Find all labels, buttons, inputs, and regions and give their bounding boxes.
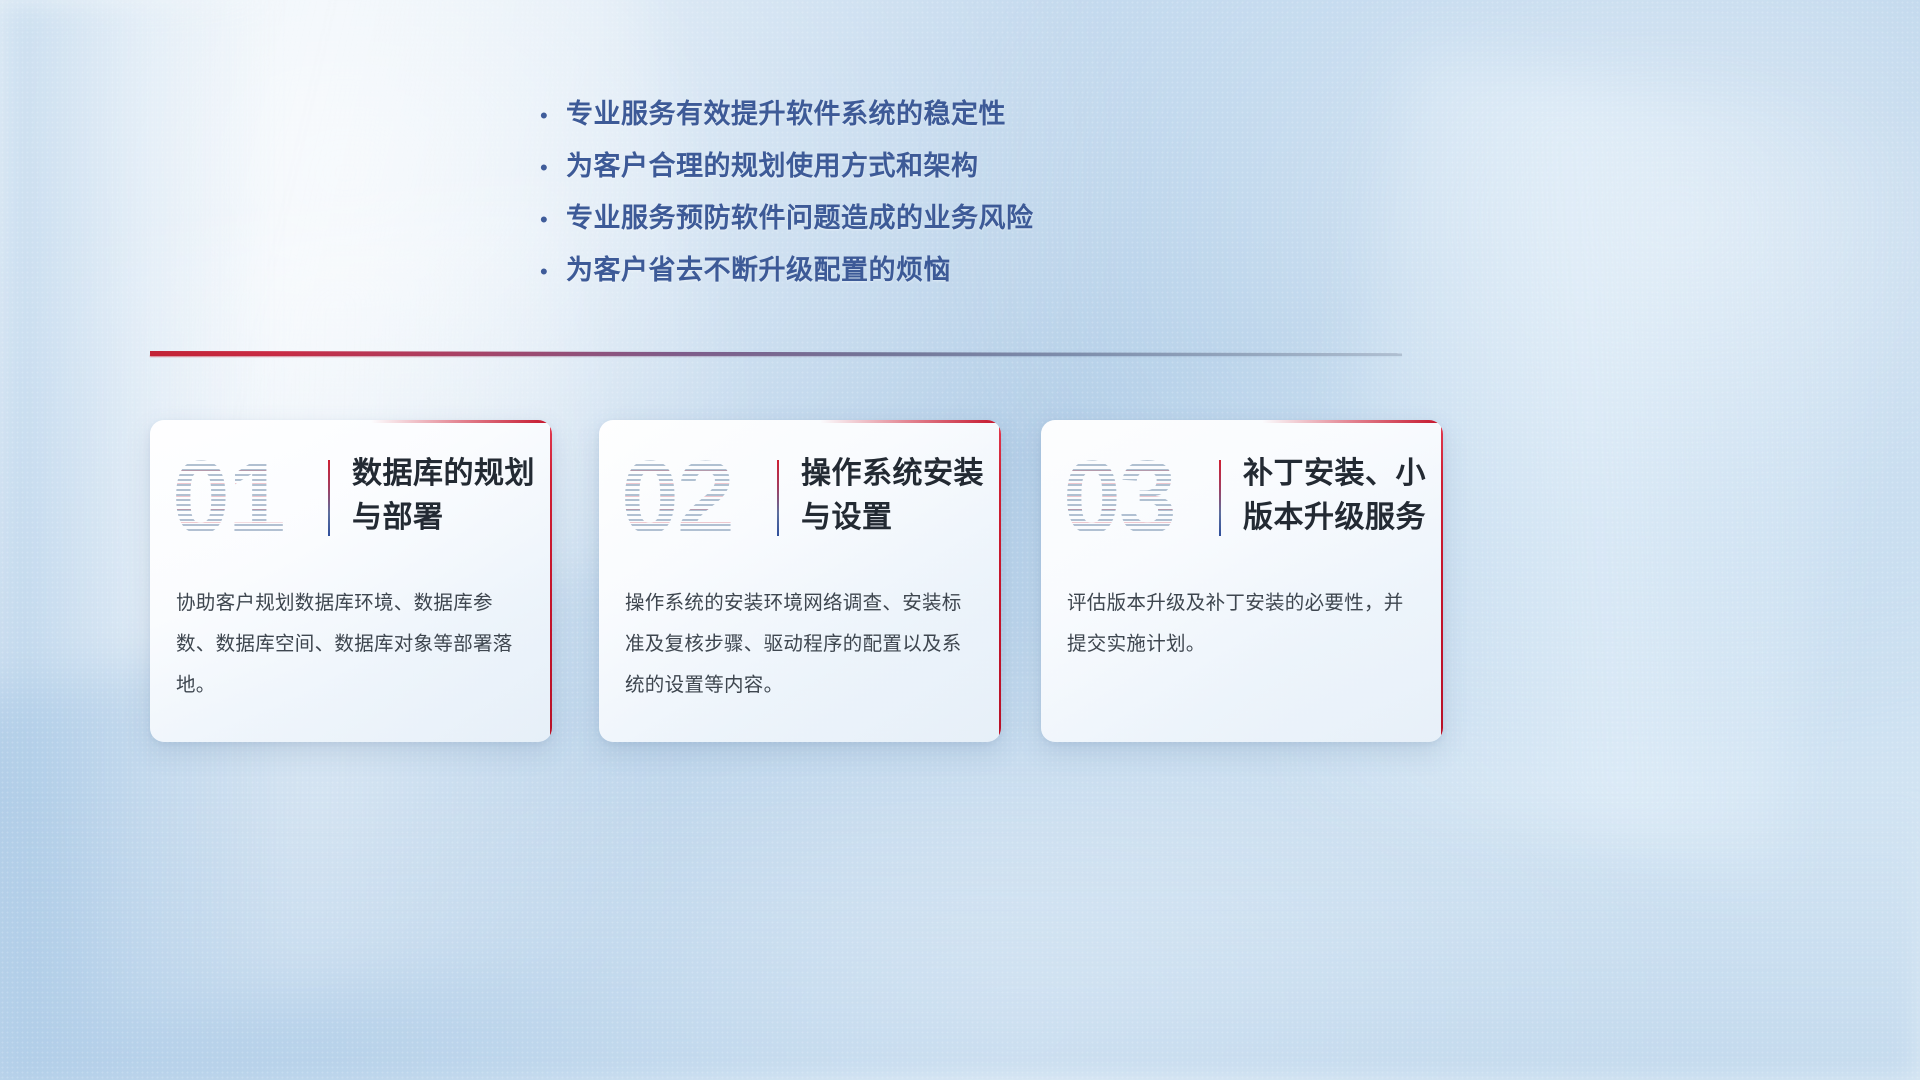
feature-card-01[interactable]: 01 01 数据库的规划与部署 协助客户规划数据库环境、数据库参数、数据库空间、… <box>150 420 552 742</box>
card-number-watermark-tint: 02 <box>621 444 761 552</box>
list-item: • 为客户省去不断升级配置的烦恼 <box>536 248 1156 300</box>
bullet-dot-icon: • <box>536 261 566 283</box>
list-item: • 为客户合理的规划使用方式和架构 <box>536 144 1156 196</box>
card-accent-bar <box>328 460 330 536</box>
bullet-list: • 专业服务有效提升软件系统的稳定性 • 为客户合理的规划使用方式和架构 • 专… <box>536 92 1156 300</box>
card-title: 补丁安装、小版本升级服务 <box>1243 452 1427 540</box>
card-title: 操作系统安装与设置 <box>801 452 985 540</box>
divider-shadow-line <box>150 355 1402 357</box>
card-title: 数据库的规划与部署 <box>352 452 536 540</box>
card-row: 01 01 数据库的规划与部署 协助客户规划数据库环境、数据库参数、数据库空间、… <box>0 420 1920 750</box>
card-number-watermark-tint: 03 <box>1063 444 1203 552</box>
bullet-text: 专业服务有效提升软件系统的稳定性 <box>566 92 1006 131</box>
card-number-watermark-tint: 01 <box>172 444 312 552</box>
section-divider <box>150 348 1402 362</box>
card-header: 03 03 补丁安装、小版本升级服务 <box>1041 420 1443 580</box>
feature-card-02[interactable]: 02 02 操作系统安装与设置 操作系统的安装环境网络调查、安装标准及复核步骤、… <box>599 420 1001 742</box>
bullet-dot-icon: • <box>536 105 566 127</box>
card-body-text: 操作系统的安装环境网络调查、安装标准及复核步骤、驱动程序的配置以及系统的设置等内… <box>625 583 979 706</box>
list-item: • 专业服务预防软件问题造成的业务风险 <box>536 196 1156 248</box>
card-header: 01 01 数据库的规划与部署 <box>150 420 552 580</box>
bullet-dot-icon: • <box>536 157 566 179</box>
card-body-text: 协助客户规划数据库环境、数据库参数、数据库空间、数据库对象等部署落地。 <box>176 583 530 706</box>
card-header: 02 02 操作系统安装与设置 <box>599 420 1001 580</box>
feature-card-03[interactable]: 03 03 补丁安装、小版本升级服务 评估版本升级及补丁安装的必要性，并提交实施… <box>1041 420 1443 742</box>
card-accent-bar <box>777 460 779 536</box>
bullet-text: 为客户省去不断升级配置的烦恼 <box>566 248 951 287</box>
list-item: • 专业服务有效提升软件系统的稳定性 <box>536 92 1156 144</box>
bullet-text: 为客户合理的规划使用方式和架构 <box>566 144 979 183</box>
bullet-dot-icon: • <box>536 209 566 231</box>
card-accent-bar <box>1219 460 1221 536</box>
bullet-text: 专业服务预防软件问题造成的业务风险 <box>566 196 1034 235</box>
card-body-text: 评估版本升级及补丁安装的必要性，并提交实施计划。 <box>1067 583 1421 665</box>
